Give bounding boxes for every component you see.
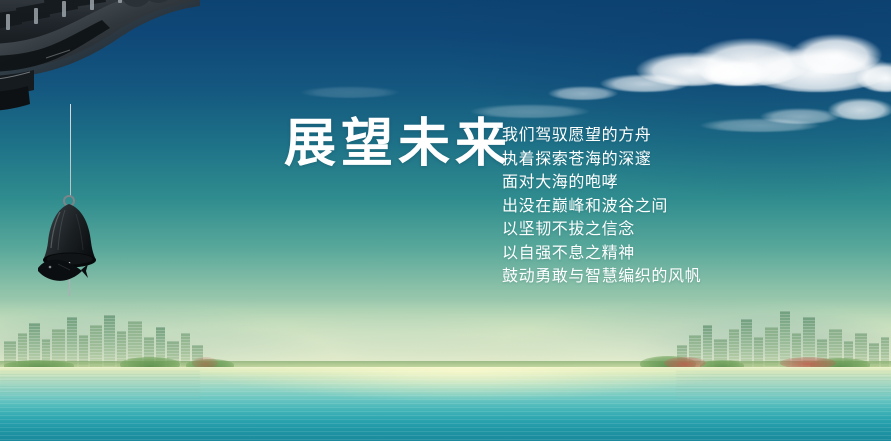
water-ripples — [0, 367, 891, 441]
city-skyline-right — [671, 305, 891, 367]
cloud-icon — [300, 86, 400, 98]
fish-pendant-icon — [36, 258, 88, 282]
poem-line: 我们驾驭愿望的方舟 — [502, 124, 732, 148]
poem-line: 执着探索苍海的深邃 — [502, 148, 732, 172]
poem-block: 我们驾驭愿望的方舟 执着探索苍海的深邃 面对大海的咆哮 出没在巅峰和波谷之间 以… — [502, 124, 732, 289]
poem-line: 出没在巅峰和波谷之间 — [502, 195, 732, 219]
cloud-icon — [700, 60, 770, 86]
poem-line: 以坚韧不拔之信念 — [502, 218, 732, 242]
page-title: 展望未来 — [284, 118, 512, 170]
poem-line: 面对大海的咆哮 — [502, 171, 732, 195]
poem-line: 以自强不息之精神 — [502, 242, 732, 266]
cloud-icon — [548, 86, 618, 100]
city-skyline-left — [0, 305, 210, 367]
bell-string — [70, 104, 71, 196]
promo-banner: 展望未来 我们驾驭愿望的方舟 执着探索苍海的深邃 面对大海的咆哮 出没在巅峰和波… — [0, 0, 891, 441]
poem-line: 鼓动勇敢与智慧编织的风帆 — [502, 265, 732, 289]
wind-bell-icon — [38, 192, 104, 302]
